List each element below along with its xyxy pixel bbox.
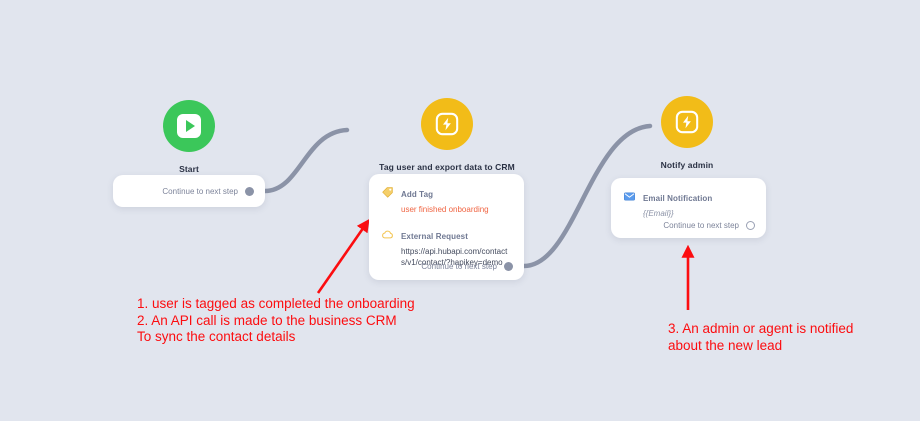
start-node-circle[interactable] (163, 100, 215, 152)
start-continue-row[interactable]: Continue to next step (124, 175, 254, 207)
notify-admin-continue-row[interactable]: Continue to next step (663, 221, 755, 230)
node-notify-admin[interactable]: Notify admin (661, 96, 713, 148)
connector-start-to-tag (265, 130, 347, 191)
tag-icon (380, 185, 394, 199)
action-email-notification[interactable]: Email Notification (622, 188, 755, 206)
action-external-request[interactable]: External Request (380, 226, 513, 244)
email-icon (622, 189, 636, 203)
cloud-request-icon (380, 227, 394, 241)
tag-export-continue-label: Continue to next step (421, 262, 497, 271)
lightning-bolt-icon (434, 111, 460, 137)
external-request-title: External Request (401, 232, 468, 241)
workflow-canvas: Start Tag user and export data to CRM No… (0, 0, 920, 421)
node-label-notify-admin: Notify admin (661, 160, 714, 170)
start-continue-dot[interactable] (245, 187, 254, 196)
action-add-tag[interactable]: Add Tag (380, 184, 513, 202)
play-triangle (186, 120, 195, 132)
card-notify-admin[interactable]: Email Notification {{Email}} Continue to… (611, 178, 766, 238)
node-start[interactable]: Start (163, 100, 215, 152)
start-continue-label: Continue to next step (162, 187, 238, 196)
annotation-right: 3. An admin or agent is notified about t… (668, 321, 853, 354)
annotation-left: 1. user is tagged as completed the onboa… (137, 296, 415, 346)
add-tag-title: Add Tag (401, 190, 433, 199)
node-label-start: Start (179, 164, 199, 174)
play-icon (177, 114, 201, 138)
tag-export-node-circle[interactable] (421, 98, 473, 150)
email-notification-value: {{Email}} (643, 208, 755, 219)
card-start[interactable]: Continue to next step (113, 175, 265, 207)
tag-export-continue-row[interactable]: Continue to next step (421, 262, 513, 271)
node-tag-export[interactable]: Tag user and export data to CRM (421, 98, 473, 150)
notify-admin-node-circle[interactable] (661, 96, 713, 148)
arrow-to-external-request (318, 224, 366, 293)
lightning-bolt-icon (674, 109, 700, 135)
tag-export-continue-dot[interactable] (504, 262, 513, 271)
notify-admin-continue-label: Continue to next step (663, 221, 739, 230)
card-tag-export[interactable]: Add Tag user finished onboarding Externa… (369, 174, 524, 280)
add-tag-value: user finished onboarding (401, 204, 513, 215)
email-notification-title: Email Notification (643, 194, 712, 203)
node-label-tag-export: Tag user and export data to CRM (379, 162, 515, 172)
notify-admin-continue-dot[interactable] (746, 221, 755, 230)
